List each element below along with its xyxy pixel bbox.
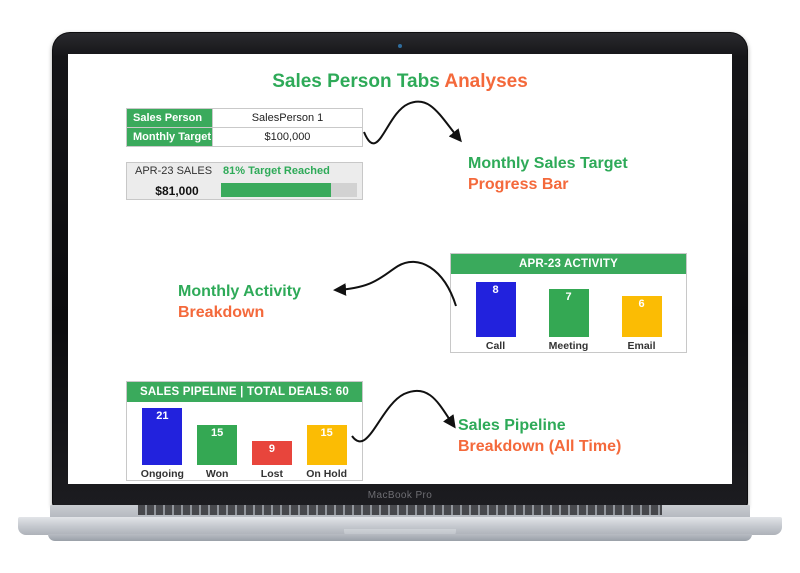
arrow-to-monthly-activity (336, 262, 456, 306)
annotation-line2: Progress Bar (468, 175, 628, 196)
bar[interactable]: 15 (307, 425, 347, 465)
bar-value: 7 (565, 291, 571, 337)
pipeline-chart-title: SALES PIPELINE | TOTAL DEALS: 60 (127, 382, 362, 402)
table-row: Monthly Target $100,000 (127, 128, 363, 147)
sales-person-value[interactable]: SalesPerson 1 (213, 109, 363, 128)
bar-label: Meeting (549, 340, 589, 352)
laptop-screen: Sales Person Tabs Analyses Sales Person … (68, 54, 732, 484)
pipeline-bar-chart: 21Ongoing15Won9Lost15On Hold (127, 402, 362, 480)
arrow-to-sales-target (364, 102, 460, 144)
annotation-sales-pipeline: Sales Pipeline Breakdown (All Time) (458, 416, 621, 458)
sales-person-label: Sales Person (127, 109, 213, 128)
bar[interactable]: 15 (197, 425, 237, 465)
annotation-line1: Sales Pipeline (458, 416, 621, 437)
annotation-line2: Breakdown (All Time) (458, 437, 621, 458)
progress-status-text: 81% Target Reached (223, 165, 330, 177)
bar-group-lost: 9Lost (249, 402, 295, 480)
bar-group-meeting: 7Meeting (546, 274, 592, 352)
bar-value: 9 (269, 443, 275, 465)
arrow-to-sales-pipeline (352, 391, 454, 442)
bar-value: 15 (211, 427, 223, 465)
bar-group-won: 15Won (194, 402, 240, 480)
bar-group-ongoing: 21Ongoing (139, 402, 185, 480)
bar[interactable]: 8 (476, 282, 516, 337)
progress-bar-track (221, 183, 357, 197)
laptop-mockup: MacBook Pro Sales Person Tabs Analyses S… (0, 0, 800, 573)
laptop-base-foot (48, 534, 752, 541)
bar-group-on-hold: 15On Hold (304, 402, 350, 480)
bar-value: 21 (156, 410, 168, 465)
page-title-primary: Sales Person Tabs (272, 71, 440, 92)
bar-value: 8 (492, 284, 498, 337)
annotation-line2: Breakdown (178, 303, 301, 324)
macbook-model-label: MacBook Pro (52, 490, 748, 501)
annotation-sales-target: Monthly Sales Target Progress Bar (468, 154, 628, 196)
camera-dot-icon (398, 44, 402, 48)
monthly-target-label: Monthly Target (127, 128, 213, 147)
laptop-lid: MacBook Pro Sales Person Tabs Analyses S… (52, 32, 748, 507)
activity-chart-title: APR-23 ACTIVITY (451, 254, 686, 274)
bar-value: 6 (638, 298, 644, 337)
progress-bar-fill (221, 183, 331, 197)
bar-label: Lost (261, 468, 283, 480)
page-title-secondary: Analyses (444, 71, 527, 92)
bar[interactable]: 9 (252, 441, 292, 465)
monthly-target-progress-panel: APR-23 SALES 81% Target Reached $81,000 (126, 162, 363, 200)
bar-label: Ongoing (141, 468, 184, 480)
annotation-line1: Monthly Sales Target (468, 154, 628, 175)
annotation-line1: Monthly Activity (178, 282, 301, 303)
pipeline-chart-panel: SALES PIPELINE | TOTAL DEALS: 60 21Ongoi… (126, 381, 363, 481)
bar-label: Email (627, 340, 655, 352)
progress-amount-value: $81,000 (139, 184, 215, 198)
progress-period-label: APR-23 SALES (135, 165, 212, 177)
keyboard-edge (138, 505, 662, 515)
sales-person-info-table: Sales Person SalesPerson 1 Monthly Targe… (126, 108, 363, 147)
table-row: Sales Person SalesPerson 1 (127, 109, 363, 128)
laptop-base-body (18, 517, 782, 535)
bar-value: 15 (321, 427, 333, 465)
bar-group-call: 8Call (473, 274, 519, 352)
page-title: Sales Person Tabs Analyses (68, 71, 732, 93)
activity-chart-panel: APR-23 ACTIVITY 8Call7Meeting6Email (450, 253, 687, 353)
laptop-base (18, 505, 782, 539)
bar[interactable]: 21 (142, 408, 182, 465)
progress-header-row: APR-23 SALES 81% Target Reached (127, 165, 362, 181)
bar-label: Call (486, 340, 505, 352)
monthly-target-value[interactable]: $100,000 (213, 128, 363, 147)
annotation-monthly-activity: Monthly Activity Breakdown (178, 282, 301, 324)
bar[interactable]: 7 (549, 289, 589, 337)
activity-bar-chart: 8Call7Meeting6Email (451, 274, 686, 352)
bar-label: Won (206, 468, 229, 480)
bar[interactable]: 6 (622, 296, 662, 337)
bar-label: On Hold (306, 468, 347, 480)
bar-group-email: 6Email (619, 274, 665, 352)
